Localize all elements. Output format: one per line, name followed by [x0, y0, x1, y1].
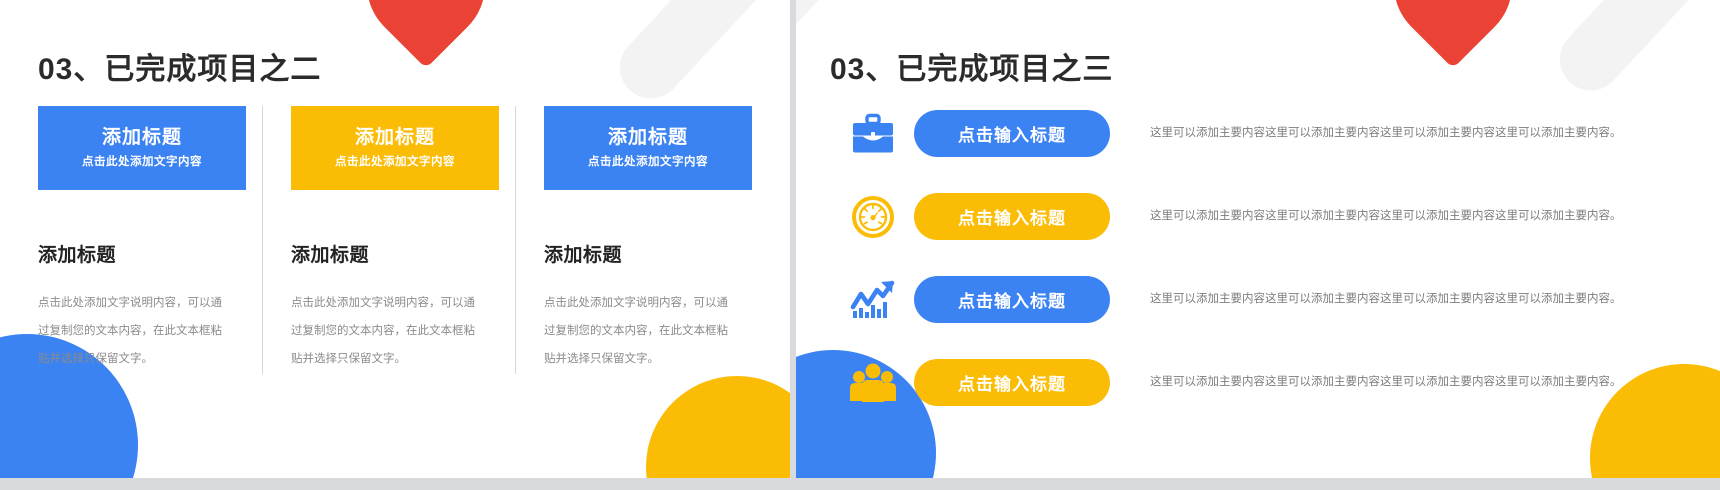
growth-chart-icon — [836, 278, 910, 322]
feature-column: 添加标题 点击此处添加文字内容 添加标题 点击此处添加文字说明内容，可以通过复制… — [515, 106, 768, 374]
column-badge[interactable]: 添加标题 点击此处添加文字内容 — [544, 106, 752, 190]
badge-title: 添加标题 — [608, 127, 688, 150]
column-badge[interactable]: 添加标题 点击此处添加文字内容 — [38, 106, 246, 190]
row-body-text: 这里可以添加主要内容这里可以添加主要内容这里可以添加主要内容这里可以添加主要内容… — [1150, 288, 1680, 310]
column-heading: 添加标题 — [544, 240, 752, 267]
column-heading: 添加标题 — [291, 240, 499, 267]
badge-subtitle: 点击此处添加文字内容 — [588, 153, 708, 169]
feature-row: 点击输入标题 这里可以添加主要内容这里可以添加主要内容这里可以添加主要内容这里可… — [836, 92, 1692, 175]
badge-title: 添加标题 — [355, 127, 435, 150]
red-teardrop-decoration — [1370, 0, 1537, 68]
row-body-text: 这里可以添加主要内容这里可以添加主要内容这里可以添加主要内容这里可以添加主要内容… — [1150, 371, 1680, 393]
yellow-circle-decoration — [646, 376, 790, 478]
feature-column: 添加标题 点击此处添加文字内容 添加标题 点击此处添加文字说明内容，可以通过复制… — [38, 106, 262, 374]
pill-label: 点击输入标题 — [958, 121, 1066, 146]
column-body-text: 点击此处添加文字说明内容，可以通过复制您的文本内容，在此文本框粘贴并选择只保留文… — [38, 289, 228, 374]
row-body-text: 这里可以添加主要内容这里可以添加主要内容这里可以添加主要内容这里可以添加主要内容… — [1150, 205, 1680, 227]
badge-subtitle: 点击此处添加文字内容 — [335, 153, 455, 169]
page-title-right: 03、已完成项目之三 — [830, 44, 1113, 88]
column-badge[interactable]: 添加标题 点击此处添加文字内容 — [291, 106, 499, 190]
feature-columns: 添加标题 点击此处添加文字内容 添加标题 点击此处添加文字说明内容，可以通过复制… — [38, 106, 754, 374]
briefcase-icon — [836, 113, 910, 155]
feature-column: 添加标题 点击此处添加文字内容 添加标题 点击此处添加文字说明内容，可以通过复制… — [262, 106, 515, 374]
column-body-text: 点击此处添加文字说明内容，可以通过复制您的文本内容，在此文本框粘贴并选择只保留文… — [544, 289, 734, 374]
pill-label: 点击输入标题 — [958, 370, 1066, 395]
column-body-text: 点击此处添加文字说明内容，可以通过复制您的文本内容，在此文本框粘贴并选择只保留文… — [291, 289, 481, 374]
page-title-left: 03、已完成项目之二 — [38, 44, 321, 88]
badge-title: 添加标题 — [102, 127, 182, 150]
feature-row: 点击输入标题 这里可以添加主要内容这里可以添加主要内容这里可以添加主要内容这里可… — [836, 258, 1692, 341]
feature-rows: 点击输入标题 这里可以添加主要内容这里可以添加主要内容这里可以添加主要内容这里可… — [836, 92, 1692, 424]
row-pill-button[interactable]: 点击输入标题 — [914, 276, 1110, 323]
row-pill-button[interactable]: 点击输入标题 — [914, 193, 1110, 240]
red-teardrop-decoration — [343, 0, 510, 68]
row-pill-button[interactable]: 点击输入标题 — [914, 359, 1110, 406]
people-group-icon — [836, 361, 910, 405]
slide-completed-project-three: 03、已完成项目之三 点击输入标题 这里可以添加主要内容这里可以添加主要内容 — [796, 0, 1720, 478]
feature-row: 点击输入标题 这里可以添加主要内容这里可以添加主要内容这里可以添加主要内容这里可… — [836, 175, 1692, 258]
column-heading: 添加标题 — [38, 240, 246, 267]
badge-subtitle: 点击此处添加文字内容 — [82, 153, 202, 169]
feature-row: 点击输入标题 这里可以添加主要内容这里可以添加主要内容这里可以添加主要内容这里可… — [836, 341, 1692, 424]
slide-completed-project-two: 03、已完成项目之二 添加标题 点击此处添加文字内容 添加标题 点击此处添加文字… — [0, 0, 790, 478]
pill-label: 点击输入标题 — [958, 287, 1066, 312]
gray-bar-decoration — [1547, 0, 1720, 103]
slides-stage: 03、已完成项目之二 添加标题 点击此处添加文字内容 添加标题 点击此处添加文字… — [0, 0, 1720, 490]
gauge-icon — [836, 195, 910, 239]
gray-bar-decoration — [607, 0, 790, 111]
pill-label: 点击输入标题 — [958, 204, 1066, 229]
row-pill-button[interactable]: 点击输入标题 — [914, 110, 1110, 157]
row-body-text: 这里可以添加主要内容这里可以添加主要内容这里可以添加主要内容这里可以添加主要内容… — [1150, 122, 1680, 144]
